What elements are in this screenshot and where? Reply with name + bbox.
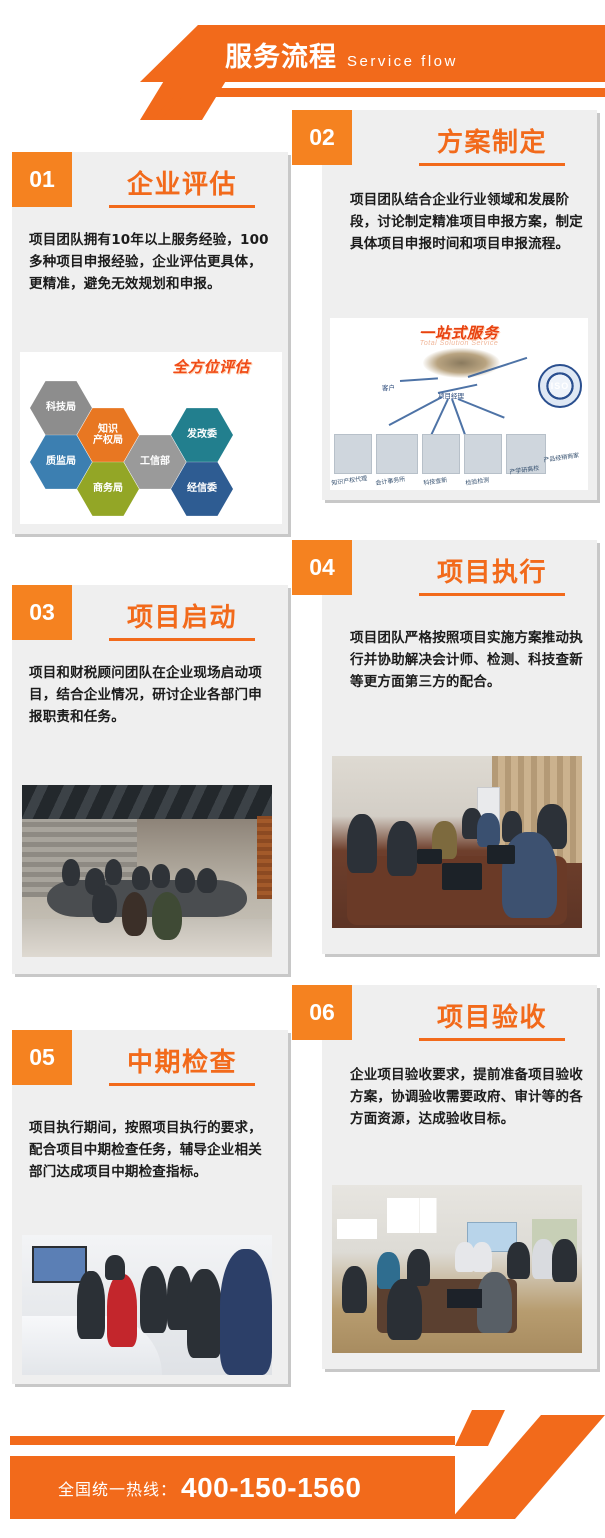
service-caption: 产品经销商家 [543,450,580,464]
laptop [487,845,515,864]
person [197,868,217,894]
step-card-04: 04 项目执行 项目团队严格按照项目实施方案推动执行并协助解决会计师、检测、科技… [292,540,605,960]
flow-arrow [458,398,505,419]
hexagon-node-label: 知识 产权局 [93,424,123,447]
one-stop-service-subtitle: Total Solution Service [330,340,588,347]
hexagon-node-label: 质监局 [46,456,76,468]
hexagon-node-label: 经信委 [187,483,217,495]
person [387,821,417,876]
card-title-underline [109,638,255,641]
service-tile [376,434,418,474]
certificate-wall [387,1198,462,1242]
step-card-05: 05 中期检查 项目执行期间，按照项目执行的要求，配合项目中期检查任务，辅导企业… [12,1030,294,1390]
laptop [447,1289,482,1307]
person-red-coat [107,1274,137,1347]
person [187,1269,222,1359]
service-caption: 科技查新 [423,475,448,487]
hexagon-node-label: 科技局 [46,402,76,414]
service-tile [464,434,502,474]
header-title-group: 服务流程 Service flow [225,35,458,75]
footer-accent-line [10,1436,455,1445]
step-number-badge: 02 [292,110,352,165]
photo-boardroom-certificates [332,1185,582,1353]
hexagon-node-label: 商务局 [93,483,123,495]
step-card-01: 01 企业评估 项目团队拥有10年以上服务经验，100多种项目申报经验，企业评估… [12,152,294,540]
certificate-wall-left [337,1219,387,1239]
card-description: 项目和财税顾问团队在企业现场启动项目，结合企业情况，研讨企业各部门申报职责和任务… [29,663,273,729]
card-title: 方案制定 [392,122,592,159]
step-number-badge: 06 [292,985,352,1040]
service-caption: 知识产权代理 [331,473,368,487]
service-caption: 会计事务所 [375,474,406,487]
person [105,859,123,885]
meeting-group-photo [423,348,500,378]
service-caption: 检验检测 [465,475,490,487]
card-title: 项目启动 [82,597,282,634]
card-title: 项目执行 [392,552,592,589]
hexagon-node-label: 工信部 [140,456,170,468]
card-title-underline [419,1038,565,1041]
step-number-badge: 04 [292,540,352,595]
person [507,1242,530,1279]
step-number-badge: 05 [12,1030,72,1085]
card-title-underline [419,163,565,166]
page-subtitle: Service flow [347,53,458,70]
floor [22,919,272,957]
hexagon-diagram-title: 全方位评估 [143,356,279,377]
card-description: 企业项目验收要求，提前准备项目验收方案，协调验收需要政府、审计等的各方面资源，达… [350,1065,588,1131]
laptop [417,849,442,864]
person [220,1249,273,1375]
service-flow-infographic: 服务流程 Service flow 01 企业评估 项目团队拥有10年以上服务经… [0,0,605,1538]
page-title: 服务流程 [225,35,337,74]
card-title: 企业评估 [82,164,282,201]
person [472,1242,492,1272]
step-card-06: 06 项目验收 企业项目验收要求，提前准备项目验收方案，协调验收需要政府、审计等… [292,985,605,1375]
person [92,885,117,923]
hotline-phone[interactable]: 400-150-1560 [181,1472,361,1504]
iso-seal-icon [538,364,582,408]
service-tile [422,434,460,474]
card-title-underline [419,593,565,596]
photo-conference-room [22,785,272,957]
one-stop-service-diagram: 一站式服务 Total Solution Service 客户 项目经理 知识产… [330,318,588,490]
display-screen [32,1246,87,1282]
person [62,859,80,887]
hexagon-assessment-diagram: 全方位评估 科技局 知识 产权局 质监局 商务局 工信部 发改委 经信委 [20,352,282,524]
flow-arrow [400,377,438,382]
person [132,866,150,890]
step-card-02: 02 方案制定 项目团队结合企业行业领域和发展阶段，讨论制定精准项目申报方案，制… [292,110,605,506]
step-number-badge: 03 [12,585,72,640]
photo-laptop-meeting [332,756,582,928]
person [105,1255,125,1280]
hexagon-node-label: 发改委 [187,429,217,441]
hotline-label: 全国统一热线： [58,1476,177,1500]
card-description: 项目执行期间，按照项目执行的要求，配合项目中期检查任务，辅导企业相关部门达成项目… [29,1118,273,1184]
person [140,1266,168,1333]
person [477,1272,512,1332]
step-card-03: 03 项目启动 项目和财税顾问团队在企业现场启动项目，结合企业情况，研讨企业各部… [12,585,294,980]
person [552,1239,577,1283]
card-title-underline [109,205,255,208]
card-title: 项目验收 [392,997,592,1034]
person [387,1279,422,1339]
card-title-underline [109,1083,255,1086]
person [175,868,195,894]
wood-panel [257,816,272,899]
card-title: 中期检查 [82,1042,282,1079]
flow-arrow [389,396,443,426]
laptop [442,863,482,891]
card-description: 项目团队严格按照项目实施方案推动执行并协助解决会计师、检测、科技查新等更方面第三… [350,628,588,694]
photo-showroom-visit [22,1235,272,1375]
step-number-badge: 01 [12,152,72,207]
hotline-group: 全国统一热线： 400-150-1560 [58,1456,361,1519]
client-label: 客户 [382,382,395,392]
person [477,813,500,847]
person [122,892,147,937]
header-accent-line [170,88,605,97]
card-description: 项目团队结合企业行业领域和发展阶段，讨论制定精准项目申报方案，制定具体项目申报时… [350,190,588,256]
person [77,1271,105,1338]
person [152,892,182,940]
person [342,1266,367,1313]
page-footer: 全国统一热线： 400-150-1560 [0,1400,605,1538]
person [152,864,170,888]
ceiling [22,785,272,819]
person [347,814,377,872]
card-description: 项目团队拥有10年以上服务经验，100多种项目申报经验，企业评估更具体，更精准，… [29,230,273,296]
page-header: 服务流程 Service flow [0,0,605,110]
service-tile [334,434,372,474]
